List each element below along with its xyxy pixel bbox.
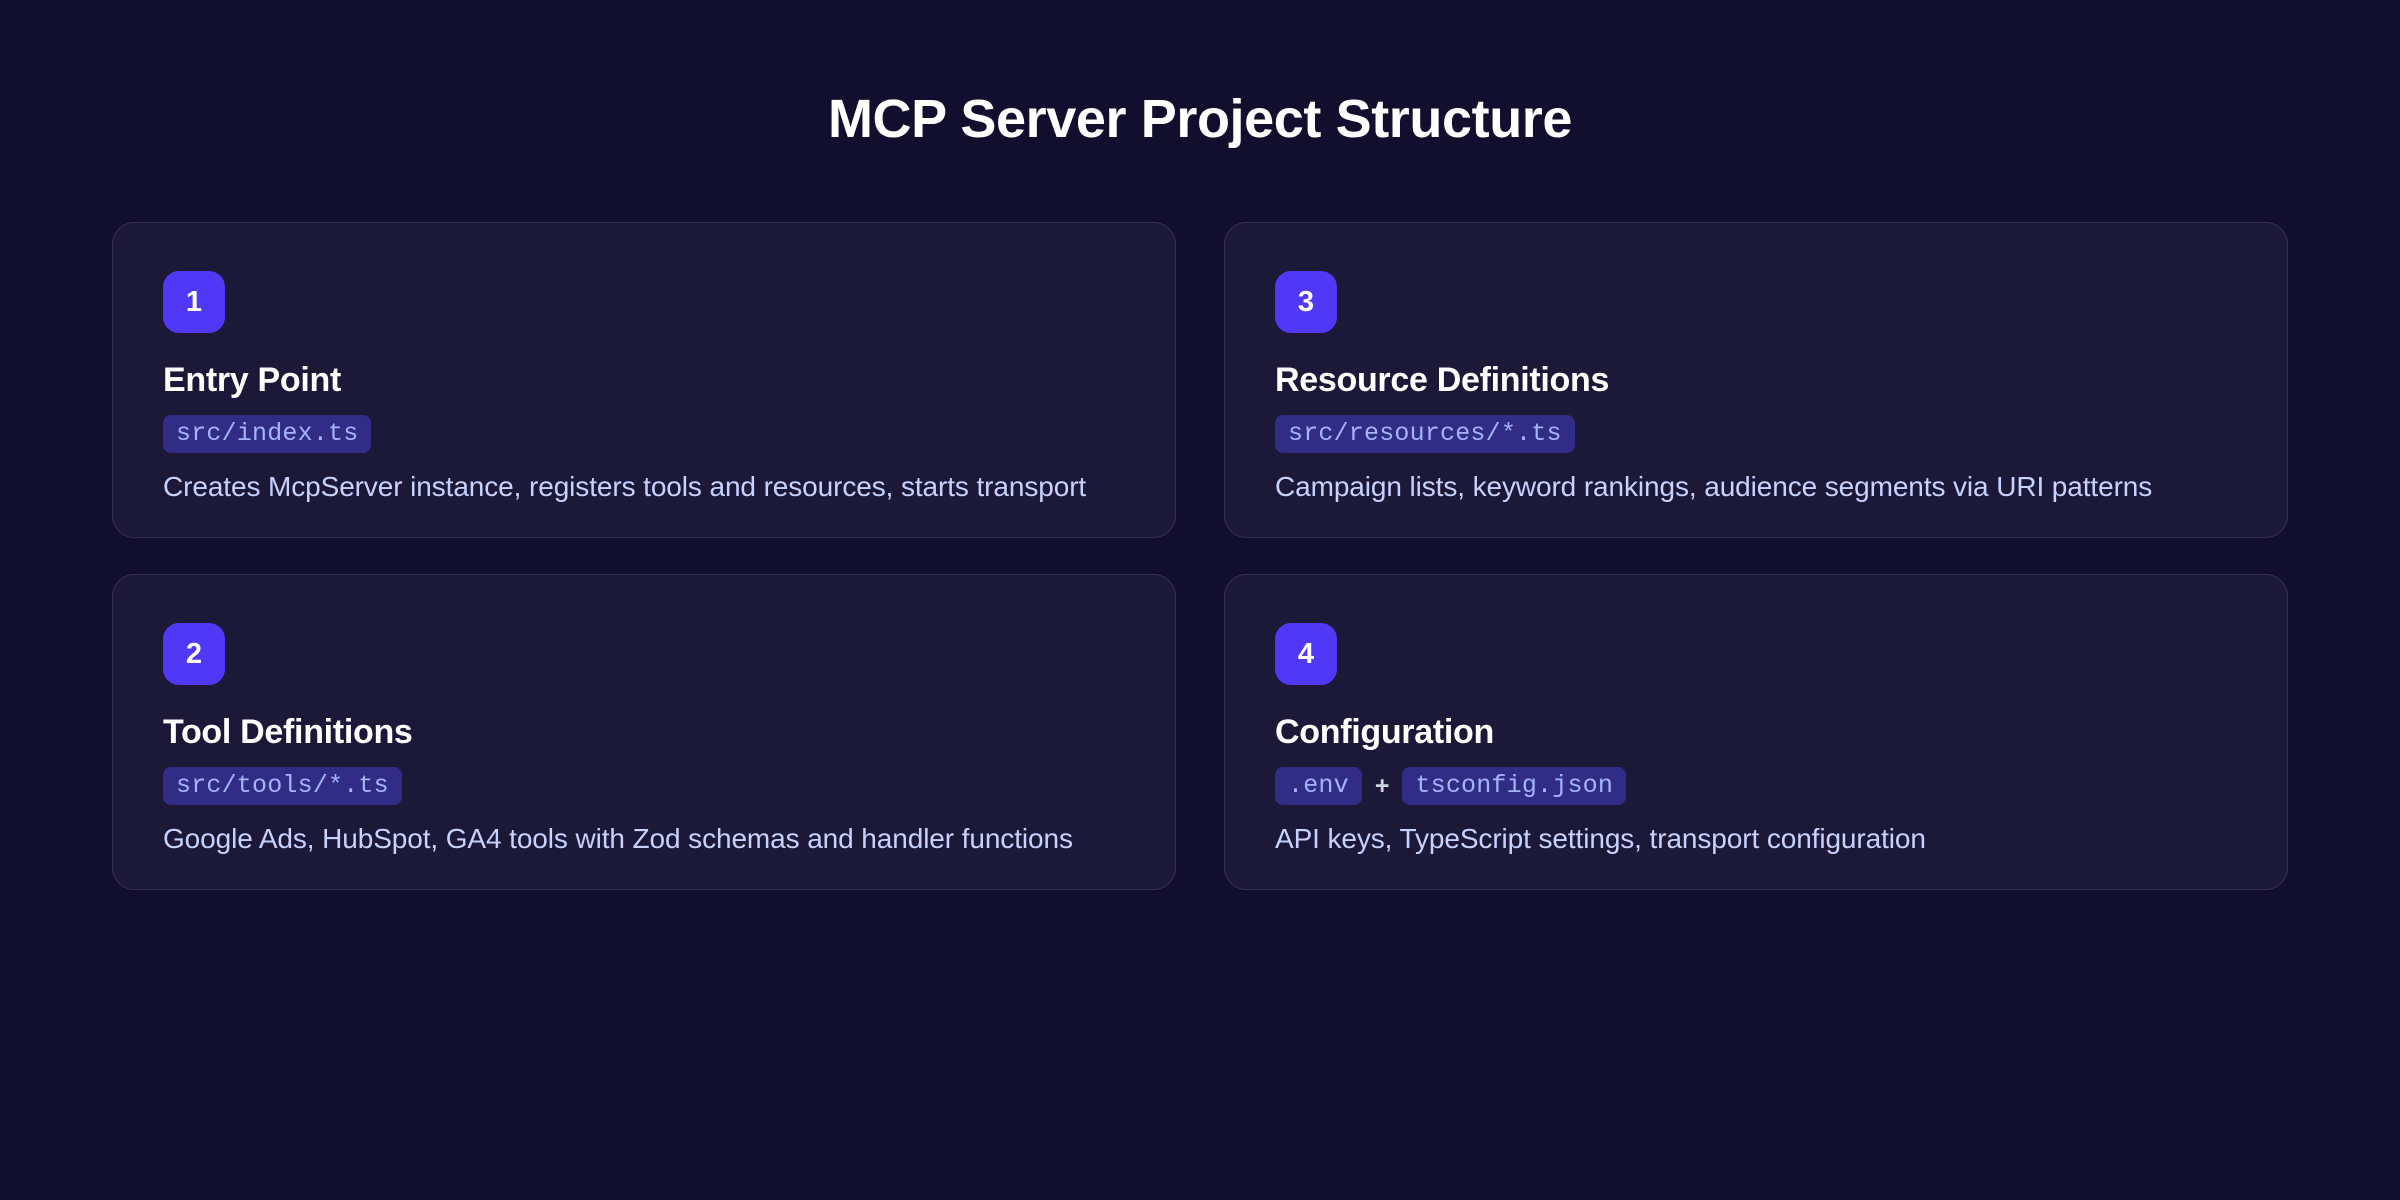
- card-title: Resource Definitions: [1275, 362, 2237, 399]
- page-title: MCP Server Project Structure: [0, 88, 2400, 150]
- code-chip-path: src/resources/*.ts: [1275, 415, 1575, 453]
- card-description: Campaign lists, keyword rankings, audien…: [1275, 468, 2237, 506]
- card-path-chips: src/tools/*.ts: [163, 767, 1125, 805]
- page-root: MCP Server Project Structure 1 Entry Poi…: [0, 0, 2400, 1200]
- card-path-chips: src/resources/*.ts: [1275, 415, 2237, 453]
- card-path-chips: src/index.ts: [163, 415, 1125, 453]
- card-description: Creates McpServer instance, registers to…: [163, 468, 1125, 506]
- card-entry-point[interactable]: 1 Entry Point src/index.ts Creates McpSe…: [112, 222, 1176, 538]
- code-chip-tsconfig: tsconfig.json: [1402, 767, 1626, 805]
- card-resource-definitions[interactable]: 3 Resource Definitions src/resources/*.t…: [1224, 222, 2288, 538]
- card-description: API keys, TypeScript settings, transport…: [1275, 820, 2237, 858]
- card-title: Configuration: [1275, 714, 2237, 751]
- card-number-badge: 4: [1275, 623, 1337, 685]
- cards-grid: 1 Entry Point src/index.ts Creates McpSe…: [112, 222, 2288, 890]
- card-title: Tool Definitions: [163, 714, 1125, 751]
- card-description: Google Ads, HubSpot, GA4 tools with Zod …: [163, 820, 1125, 858]
- card-number-badge: 1: [163, 271, 225, 333]
- card-title: Entry Point: [163, 362, 1125, 399]
- card-tool-definitions[interactable]: 2 Tool Definitions src/tools/*.ts Google…: [112, 574, 1176, 890]
- card-configuration[interactable]: 4 Configuration .env + tsconfig.json API…: [1224, 574, 2288, 890]
- card-path-chips: .env + tsconfig.json: [1275, 767, 2237, 805]
- card-number-badge: 2: [163, 623, 225, 685]
- code-chip-env: .env: [1275, 767, 1362, 805]
- code-chip-path: src/tools/*.ts: [163, 767, 402, 805]
- code-chip-path: src/index.ts: [163, 415, 371, 453]
- card-number-badge: 3: [1275, 271, 1337, 333]
- chip-separator-plus: +: [1375, 774, 1390, 799]
